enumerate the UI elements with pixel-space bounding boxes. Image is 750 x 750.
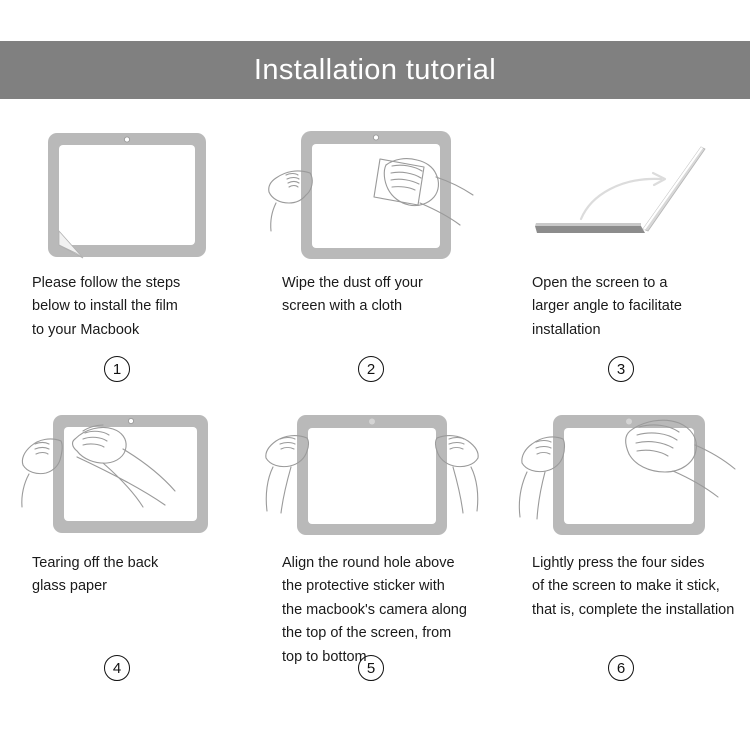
step-number-badge: 1 — [104, 356, 130, 382]
caption-line: Lightly press the four sides — [532, 552, 734, 575]
step-2-figure — [260, 120, 490, 270]
step-4-number: 4 — [0, 655, 242, 681]
step-number-badge: 5 — [358, 655, 384, 681]
hands-pressing-screen-edges-icon — [513, 405, 738, 545]
step-number-badge: 6 — [608, 655, 634, 681]
caption-line: Tearing off the back — [32, 552, 158, 575]
caption-line: Wipe the dust off your — [282, 272, 423, 295]
caption-line: Align the round hole above — [282, 552, 467, 575]
tutorial-step-5: Align the round hole above the protectiv… — [250, 400, 500, 680]
step-1-number: 1 — [0, 356, 242, 382]
step-number-badge: 4 — [104, 655, 130, 681]
caption-line: that is, complete the installation — [532, 599, 734, 622]
caption-line: screen with a cloth — [282, 295, 423, 318]
caption-line: of the screen to make it stick, — [532, 575, 734, 598]
step-3-number: 3 — [496, 356, 746, 382]
caption-line: glass paper — [32, 575, 158, 598]
caption-line: below to install the film — [32, 295, 180, 318]
caption-line: installation — [532, 319, 682, 342]
step-6-figure — [510, 400, 740, 550]
tutorial-step-2: Wipe the dust off your screen with a clo… — [250, 120, 500, 400]
step-4-figure — [10, 400, 240, 550]
step-2-caption: Wipe the dust off your screen with a clo… — [282, 272, 423, 319]
caption-line: Open the screen to a — [532, 272, 682, 295]
tutorial-step-4: Tearing off the back glass paper 4 — [0, 400, 250, 680]
tutorial-step-6: Lightly press the four sides of the scre… — [500, 400, 750, 680]
step-1-caption: Please follow the steps below to install… — [32, 272, 180, 342]
step-number-badge: 3 — [608, 356, 634, 382]
caption-line: larger angle to facilitate — [532, 295, 682, 318]
caption-line: the top of the screen, from — [282, 622, 467, 645]
step-6-number: 6 — [496, 655, 746, 681]
step-1-figure — [10, 120, 240, 270]
step-5-figure — [260, 400, 490, 550]
step-4-caption: Tearing off the back glass paper — [32, 552, 158, 599]
hands-wiping-screen-with-cloth-icon — [268, 121, 483, 269]
tutorial-step-1: Please follow the steps below to install… — [0, 120, 250, 400]
hands-tearing-back-paper-icon — [15, 405, 235, 545]
caption-line: the protective sticker with — [282, 575, 467, 598]
tutorial-step-3: Open the screen to a larger angle to fac… — [500, 120, 750, 400]
step-3-caption: Open the screen to a larger angle to fac… — [532, 272, 682, 342]
step-6-caption: Lightly press the four sides of the scre… — [532, 552, 734, 622]
caption-line: to your Macbook — [32, 319, 180, 342]
two-hands-aligning-film-icon — [265, 405, 485, 545]
laptop-opening-side-view-icon — [523, 121, 728, 269]
header-banner: Installation tutorial — [0, 41, 750, 99]
tablet-with-peeling-film-icon — [30, 121, 220, 269]
page-title: Installation tutorial — [254, 56, 496, 85]
step-number-badge: 2 — [358, 356, 384, 382]
step-2-number: 2 — [246, 356, 496, 382]
caption-line: Please follow the steps — [32, 272, 180, 295]
step-5-number: 5 — [246, 655, 496, 681]
step-3-figure — [510, 120, 740, 270]
caption-line: the macbook's camera along — [282, 599, 467, 622]
step-5-caption: Align the round hole above the protectiv… — [282, 552, 467, 669]
tutorial-steps-grid: Please follow the steps below to install… — [0, 120, 750, 680]
